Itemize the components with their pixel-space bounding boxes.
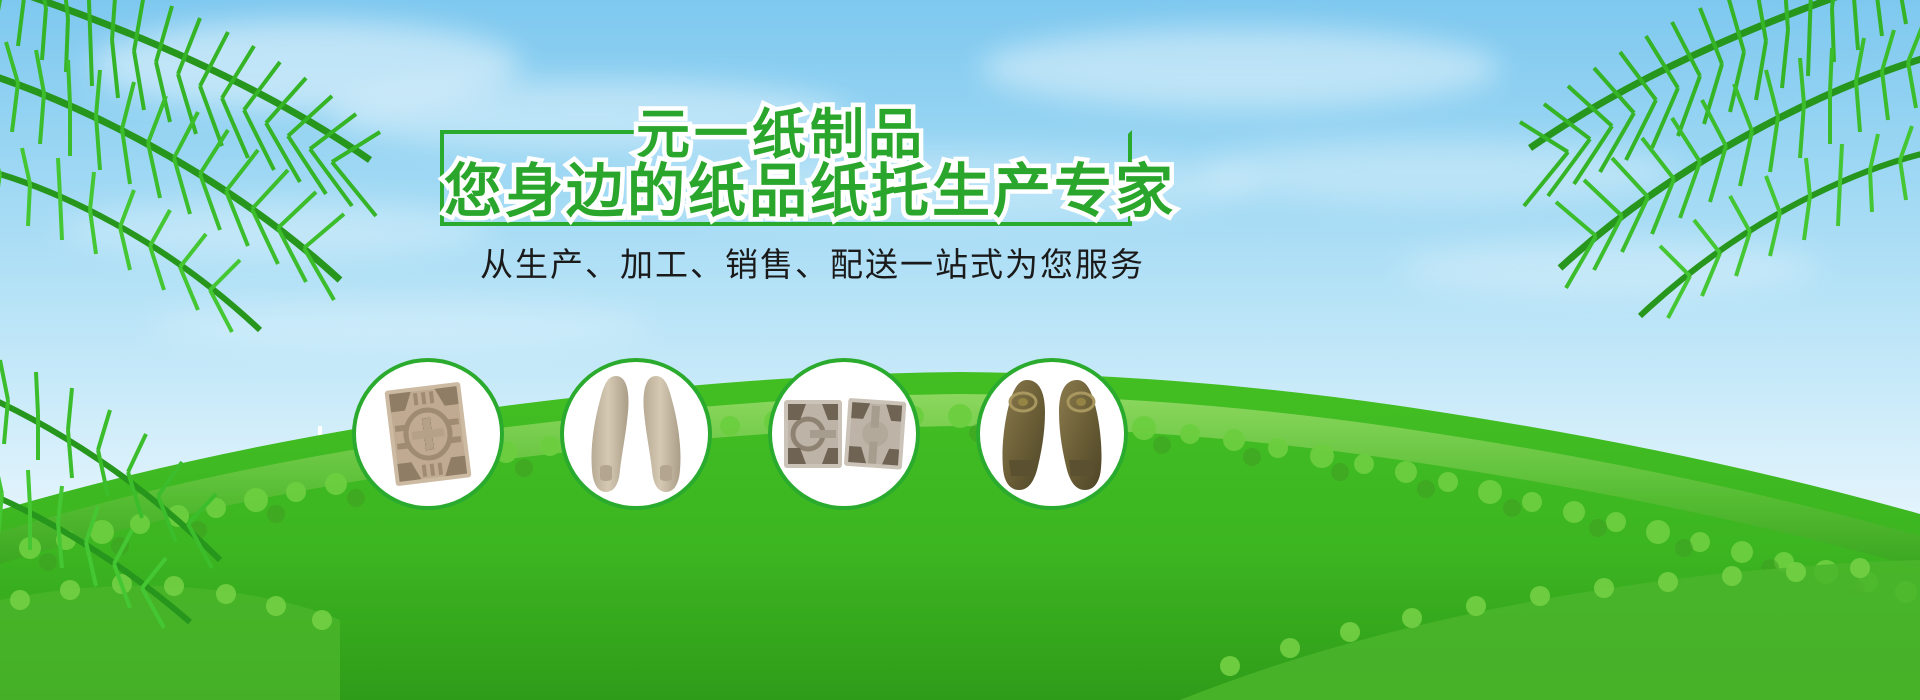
promo-banner: 元一纸制品 您身边的纸品纸托生产专家 从生产、加工、销售、配送一站式为您服务 [0,0,1920,700]
molded-pulp-insole-icon [578,368,694,500]
molded-pulp-shoe-tree-icon [993,372,1111,496]
molded-pulp-tray-pair-icon [780,386,908,482]
product-circle-molded-pulp-tray-pair[interactable] [768,358,920,510]
banner-subtitle: 从生产、加工、销售、配送一站式为您服务 [480,238,1120,286]
molded-pulp-tray-icon [368,374,488,494]
palm-frond-icon [1320,0,1920,370]
palm-frond-icon [0,330,250,630]
headline-block: 元一纸制品 您身边的纸品纸托生产专家 [440,96,1140,226]
product-circle-molded-pulp-shoe-tree-pair[interactable] [976,358,1128,510]
product-circle-molded-pulp-insole-pair[interactable] [560,358,712,510]
page-title: 您身边的纸品纸托生产专家 [444,144,1176,228]
product-showcase [352,352,1172,522]
product-circle-molded-pulp-tray-single[interactable] [352,358,504,510]
